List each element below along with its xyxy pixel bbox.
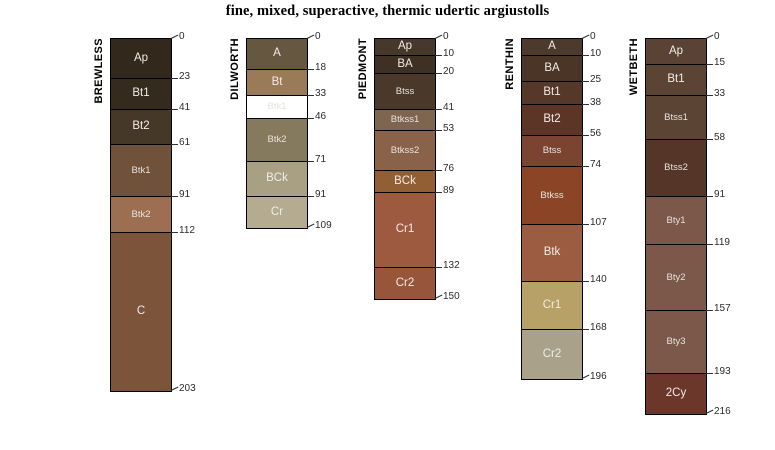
soil-horizon[interactable]: BCk	[375, 171, 435, 194]
horizon-label: Bty3	[666, 337, 685, 347]
soil-horizon[interactable]: Btk1	[111, 145, 171, 197]
axis-tick-label: 119	[714, 238, 730, 248]
axis-tick-line	[582, 329, 589, 330]
profile-column: ApBt1Bt2Btk1Btk2C	[110, 38, 172, 392]
profile-name-label: DILWORTH	[230, 38, 241, 100]
axis-tick-line	[582, 224, 589, 225]
axis-tick-label: 38	[590, 98, 601, 108]
axis-tick-line	[307, 196, 314, 197]
horizon-label: Cr2	[543, 349, 562, 361]
axis-tick-label: 157	[714, 304, 731, 314]
soil-horizon[interactable]: Btss	[522, 136, 582, 167]
horizon-label: Cr1	[543, 300, 562, 312]
soil-horizon[interactable]: Bty1	[646, 197, 706, 246]
axis-tick-label: 216	[714, 407, 731, 417]
horizon-label: Btss2	[664, 163, 688, 173]
soil-horizon[interactable]: Btss2	[646, 140, 706, 197]
soil-horizon[interactable]: Btk2	[111, 197, 171, 233]
axis-tick-label: 58	[714, 133, 725, 143]
soil-horizon[interactable]: BA	[522, 56, 582, 82]
profile-name-label: WETBETH	[629, 38, 640, 95]
profile-column: ABtBtk1Btk2BCkCr	[246, 38, 308, 229]
soil-horizon[interactable]: 2Cy	[646, 374, 706, 414]
soil-horizon[interactable]: Btk	[522, 225, 582, 282]
soil-horizon[interactable]: Btk2	[247, 119, 307, 162]
axis-tick-line	[706, 35, 714, 39]
soil-horizon[interactable]: Cr1	[522, 282, 582, 331]
soil-horizon[interactable]: BCk	[247, 162, 307, 197]
axis-tick-line	[307, 118, 314, 119]
axis-tick-line	[582, 135, 589, 136]
axis-tick-label: 56	[590, 129, 601, 139]
axis-tick-line	[582, 81, 589, 82]
soil-horizon[interactable]: Bt2	[522, 105, 582, 136]
axis-tick-label: 150	[443, 292, 460, 302]
axis-tick-line	[307, 95, 314, 96]
axis-tick-label: 10	[590, 49, 601, 59]
horizon-label: Btkss	[540, 191, 563, 201]
axis-tick-label: 203	[179, 384, 196, 394]
axis-tick-label: 15	[714, 58, 725, 68]
soil-horizon[interactable]: Ap	[111, 39, 171, 79]
horizon-label: Btk2	[267, 135, 286, 145]
horizon-label: C	[137, 306, 145, 318]
horizon-label: Btk1	[267, 102, 286, 112]
axis-tick-label: 0	[179, 32, 185, 42]
soil-horizon[interactable]: Bt1	[111, 79, 171, 110]
soil-horizon[interactable]: Btss	[375, 74, 435, 110]
axis-tick-label: 20	[443, 67, 454, 77]
horizon-label: Btk1	[131, 166, 150, 176]
axis-tick-line	[171, 232, 178, 233]
axis-tick-line	[435, 35, 443, 39]
profile-column: ApBt1Btss1Btss2Bty1Bty2Bty32Cy	[645, 38, 707, 415]
axis-tick-line	[435, 109, 442, 110]
horizon-label: Cr1	[396, 224, 415, 236]
horizon-label: Btss1	[664, 113, 688, 123]
soil-horizon[interactable]: Ap	[375, 39, 435, 56]
axis-tick-line	[582, 281, 589, 282]
axis-tick-line	[171, 109, 178, 110]
axis-tick-label: 91	[179, 190, 190, 200]
profile-column: ABABt1Bt2BtssBtkssBtkCr1Cr2	[521, 38, 583, 380]
soil-horizon[interactable]: Bty3	[646, 311, 706, 373]
axis-tick-label: 132	[443, 261, 460, 271]
axis-tick-line	[171, 78, 178, 79]
horizon-label: Bt2	[132, 121, 149, 133]
soil-horizon[interactable]: Btk1	[247, 96, 307, 119]
axis-tick-label: 74	[590, 160, 601, 170]
horizon-label: Btk	[544, 247, 561, 259]
soil-horizon[interactable]: Btss1	[646, 96, 706, 139]
axis-tick-label: 10	[443, 49, 454, 59]
axis-tick-label: 109	[315, 221, 332, 231]
horizon-label: Cr2	[396, 278, 415, 290]
axis-tick-line	[582, 104, 589, 105]
axis-tick-line	[435, 55, 442, 56]
axis-tick-line	[706, 95, 713, 96]
axis-tick-line	[435, 170, 442, 171]
soil-horizon[interactable]: Bt2	[111, 110, 171, 145]
soil-horizon[interactable]: Cr1	[375, 193, 435, 268]
horizon-label: Bt1	[667, 74, 684, 86]
horizon-label: A	[273, 48, 281, 60]
axis-tick-label: 46	[315, 112, 326, 122]
soil-horizon[interactable]: Btkss	[522, 167, 582, 224]
axis-tick-line	[435, 130, 442, 131]
axis-tick-line	[307, 69, 314, 70]
axis-tick-label: 107	[590, 218, 607, 228]
horizon-label: 2Cy	[666, 388, 686, 400]
horizon-label: Btss	[543, 146, 561, 156]
axis-tick-label: 112	[179, 226, 195, 236]
horizon-label: Ap	[398, 41, 412, 53]
axis-tick-label: 0	[443, 32, 449, 42]
axis-tick-label: 196	[590, 372, 607, 382]
horizon-label: A	[548, 41, 556, 53]
horizon-label: Btkss2	[391, 146, 420, 156]
profile-name-label: BREWLESS	[94, 38, 105, 104]
axis-tick-line	[171, 35, 179, 39]
axis-tick-line	[706, 139, 713, 140]
soil-horizon[interactable]: A	[247, 39, 307, 70]
profile-name-label: PIEDMONT	[358, 38, 369, 99]
horizon-label: Bty1	[666, 216, 685, 226]
soil-horizon[interactable]: Ap	[646, 39, 706, 65]
axis-tick-line	[307, 35, 315, 39]
axis-tick-label: 0	[315, 32, 321, 42]
soil-horizon[interactable]: Bty2	[646, 245, 706, 311]
axis-tick-label: 53	[443, 124, 454, 134]
axis-tick-label: 18	[315, 63, 326, 73]
axis-tick-line	[582, 166, 589, 167]
axis-tick-label: 71	[315, 155, 326, 165]
horizon-label: Ap	[669, 46, 683, 58]
horizon-label: Bty2	[666, 273, 685, 283]
soil-horizon[interactable]: Btkss2	[375, 131, 435, 171]
axis-tick-label: 0	[590, 32, 596, 42]
soil-horizon[interactable]: Btkss1	[375, 110, 435, 131]
horizon-label: BA	[544, 63, 559, 75]
soil-horizon[interactable]: Bt	[247, 70, 307, 96]
axis-tick-line	[582, 35, 590, 39]
page-title: fine, mixed, superactive, thermic uderti…	[0, 3, 775, 20]
soil-horizon[interactable]: A	[522, 39, 582, 56]
horizon-label: BCk	[266, 173, 288, 185]
axis-tick-line	[706, 310, 713, 311]
horizon-label: Bt	[272, 77, 283, 89]
axis-tick-label: 76	[443, 164, 454, 174]
axis-tick-label: 41	[443, 103, 454, 113]
axis-tick-label: 91	[714, 190, 725, 200]
axis-tick-label: 41	[179, 103, 190, 113]
soil-horizon[interactable]: BA	[375, 56, 435, 73]
axis-tick-label: 25	[590, 75, 601, 85]
soil-horizon[interactable]: C	[111, 233, 171, 391]
axis-tick-label: 0	[714, 32, 720, 42]
axis-tick-label: 140	[590, 275, 607, 285]
soil-horizon[interactable]: Cr2	[522, 330, 582, 379]
soil-profile-chart: fine, mixed, superactive, thermic uderti…	[0, 0, 775, 450]
axis-tick-line	[706, 244, 713, 245]
axis-tick-label: 89	[443, 186, 454, 196]
axis-tick-line	[706, 64, 713, 65]
soil-horizon[interactable]: Bt1	[646, 65, 706, 96]
axis-tick-label: 168	[590, 323, 607, 333]
axis-tick-line	[307, 161, 314, 162]
profile-column: ApBABtssBtkss1Btkss2BCkCr1Cr2	[374, 38, 436, 300]
axis-tick-line	[435, 73, 442, 74]
horizon-label: BA	[397, 59, 412, 71]
axis-tick-label: 91	[315, 190, 326, 200]
axis-tick-line	[582, 55, 589, 56]
axis-tick-line	[171, 144, 178, 145]
horizon-label: Btss	[396, 87, 414, 97]
axis-tick-line	[435, 192, 442, 193]
horizon-label: Cr	[271, 207, 283, 219]
axis-tick-label: 61	[179, 138, 190, 148]
profile-name-label: RENTHIN	[505, 38, 516, 90]
axis-tick-line	[435, 267, 442, 268]
axis-tick-line	[706, 373, 713, 374]
horizon-label: Btkss1	[391, 115, 420, 125]
axis-tick-line	[171, 196, 178, 197]
horizon-label: Bt2	[543, 114, 560, 126]
soil-horizon[interactable]: Cr	[247, 197, 307, 228]
horizon-label: Btk2	[131, 210, 150, 220]
axis-tick-line	[706, 196, 713, 197]
horizon-label: Bt1	[132, 88, 149, 100]
horizon-label: BCk	[394, 176, 416, 188]
axis-tick-label: 193	[714, 367, 731, 377]
axis-tick-label: 33	[315, 89, 326, 99]
axis-tick-label: 23	[179, 72, 190, 82]
horizon-label: Ap	[134, 53, 148, 65]
axis-tick-label: 33	[714, 89, 725, 99]
soil-horizon[interactable]: Cr2	[375, 268, 435, 299]
soil-horizon[interactable]: Bt1	[522, 82, 582, 105]
horizon-label: Bt1	[543, 87, 560, 99]
